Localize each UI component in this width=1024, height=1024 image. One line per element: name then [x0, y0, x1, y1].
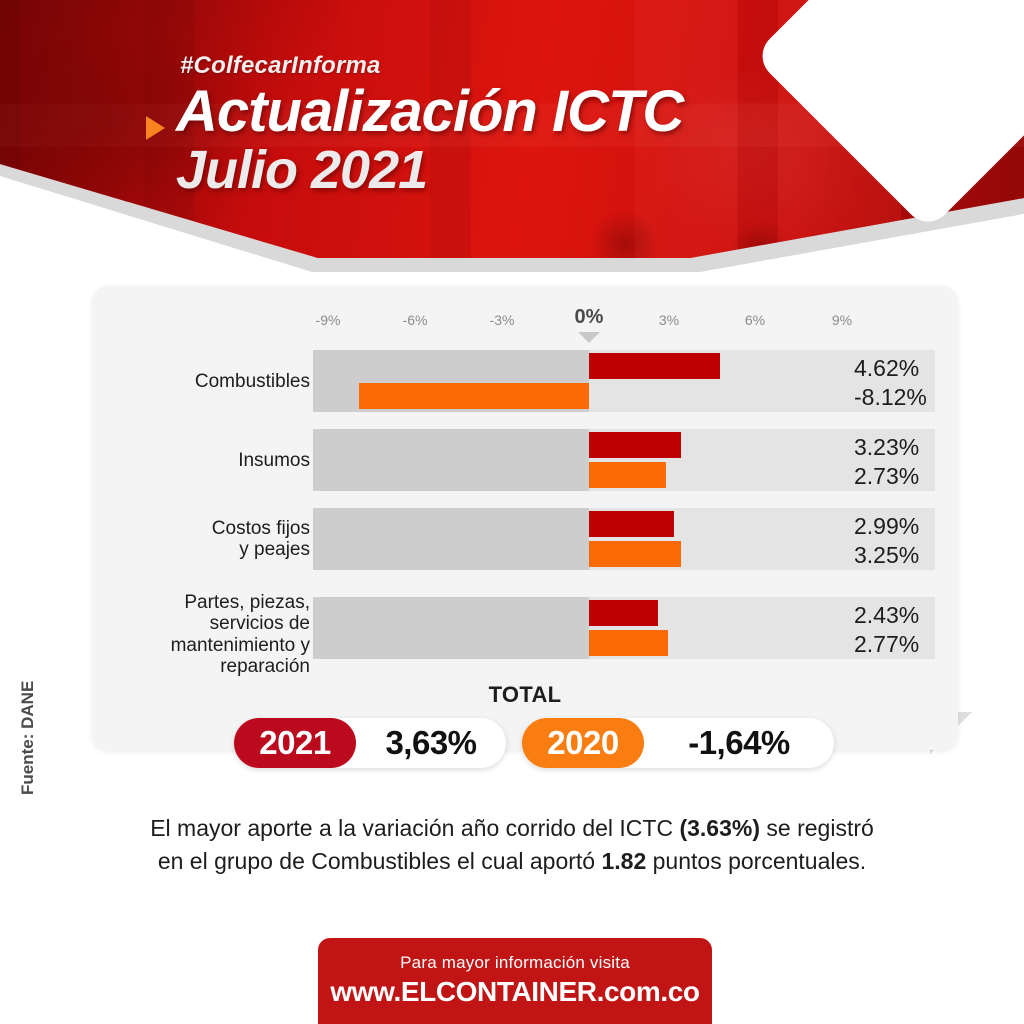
- page-title-line2: Julio 2021: [176, 143, 427, 197]
- hashtag-label: #ColfecarInforma: [180, 52, 381, 80]
- bar-2021: [589, 432, 681, 458]
- chart-rows: Combustibles 4.62% -8.12% Insumos 3.23% …: [92, 286, 958, 750]
- bar-2020: [359, 383, 589, 409]
- infographic-page: #ColfecarInforma Actualización ICTC Juli…: [0, 0, 1024, 1024]
- bar-2020: [589, 462, 666, 488]
- note-text-1: El mayor aporte a la variación año corri…: [150, 815, 679, 841]
- row-value-2021: 3.23%: [854, 433, 964, 462]
- chart-panel: -9% -6% -3% 0% 3% 6% 9% Combustibles 4.6…: [92, 286, 958, 750]
- title-arrow-icon: [146, 116, 165, 140]
- total-year-2020: 2020: [522, 718, 644, 768]
- total-pill-2021: 2021 3,63%: [234, 718, 506, 768]
- row-value-2020: 2.73%: [854, 462, 964, 491]
- total-value-2021: 3,63%: [356, 724, 506, 762]
- row-value-2021: 2.43%: [854, 601, 964, 630]
- table-row: Insumos 3.23% 2.73%: [92, 429, 958, 491]
- bar-2021: [589, 511, 674, 537]
- row-band-negative: [313, 508, 589, 570]
- row-value-2020: 2.77%: [854, 630, 964, 659]
- cta-subtitle: Para mayor información visita: [400, 953, 630, 973]
- row-value-2020: -8.12%: [854, 383, 964, 412]
- note-text-3: puntos porcentuales.: [646, 848, 866, 874]
- bar-2021: [589, 600, 658, 626]
- row-label-partes-piezas: Partes, piezas, servicios de mantenimien…: [110, 592, 310, 677]
- row-value-2021: 4.62%: [854, 354, 964, 383]
- row-label-costos-fijos: Costos fijos y peajes: [110, 518, 310, 561]
- row-value-2021: 2.99%: [854, 512, 964, 541]
- total-year-2021: 2021: [234, 718, 356, 768]
- cta-banner[interactable]: Para mayor información visita www.ELCONT…: [318, 938, 712, 1024]
- row-band-negative: [313, 597, 589, 659]
- page-title-line1: Actualización ICTC: [176, 83, 683, 141]
- table-row: Partes, piezas, servicios de mantenimien…: [92, 597, 958, 659]
- row-label-insumos: Insumos: [110, 450, 310, 471]
- table-row: Combustibles 4.62% -8.12%: [92, 350, 958, 412]
- bar-2021: [589, 353, 720, 379]
- cta-website-link[interactable]: www.ELCONTAINER.com.co: [330, 976, 699, 1008]
- total-pill-2020: 2020 -1,64%: [522, 718, 834, 768]
- source-label: Fuente: DANE: [18, 681, 38, 795]
- row-value-2020: 3.25%: [854, 541, 964, 570]
- note-bold-2: 1.82: [601, 848, 646, 874]
- logo-container: Colfecar: [804, 0, 1024, 180]
- row-band-negative: [313, 429, 589, 491]
- table-row: Costos fijos y peajes 2.99% 3.25%: [92, 508, 958, 570]
- total-value-2020: -1,64%: [644, 724, 834, 762]
- note-bold-1: (3.63%): [679, 815, 760, 841]
- row-label-combustibles: Combustibles: [110, 371, 310, 392]
- summary-note: El mayor aporte a la variación año corri…: [142, 812, 882, 877]
- bar-2020: [589, 541, 681, 567]
- total-heading: TOTAL: [92, 682, 958, 708]
- bar-2020: [589, 630, 668, 656]
